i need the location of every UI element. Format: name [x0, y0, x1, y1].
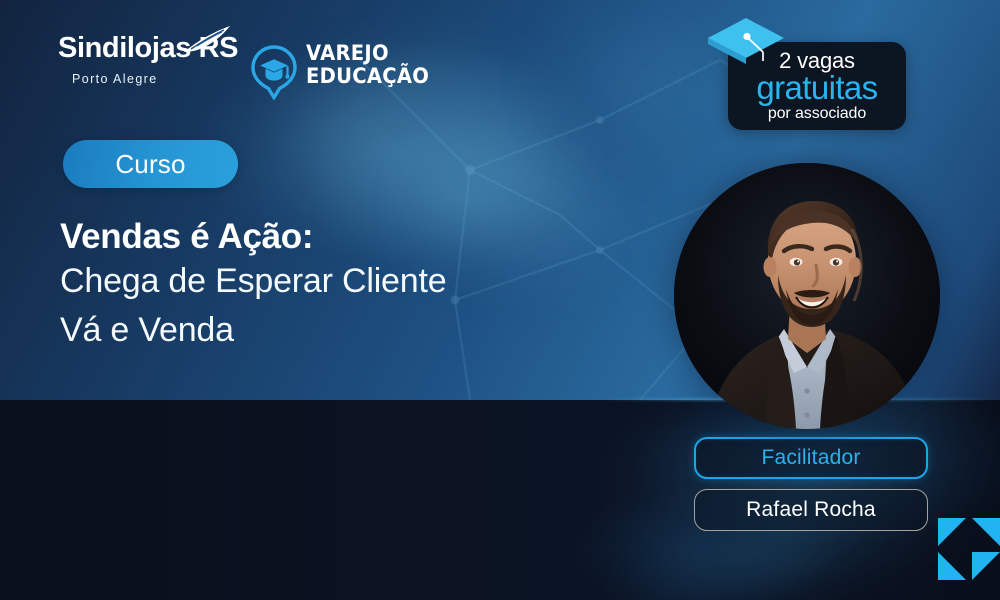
- facilitator-role-label: Facilitador: [761, 446, 860, 470]
- event-title-line-2: Chega de Esperar Cliente: [60, 257, 660, 305]
- varejo-line-1: VAREJO: [306, 42, 429, 65]
- feather-swoosh-icon: [178, 22, 234, 56]
- free-slots-line-3: por associado: [768, 105, 866, 123]
- category-badge-curso[interactable]: Curso: [63, 140, 238, 188]
- portrait-illustration: [674, 163, 940, 429]
- event-title-block: Vendas é Ação: Chega de Esperar Cliente …: [60, 216, 660, 354]
- event-title-line-3: Vá e Venda: [60, 306, 660, 354]
- map-pin-graduation-cap-icon: [248, 44, 300, 100]
- facilitator-name-pill[interactable]: Rafael Rocha: [694, 489, 928, 531]
- category-badge-label: Curso: [115, 149, 185, 180]
- event-title-main: Vendas é Ação:: [60, 216, 660, 257]
- logo-subtitle: Porto Alegre: [58, 72, 238, 86]
- logo-sindilojas-rs[interactable]: Sindilojas RS Porto Alegre: [58, 34, 238, 96]
- logo-varejo-educacao[interactable]: VAREJO EDUCAÇÃO: [248, 40, 398, 102]
- graduation-cap-icon: [705, 14, 787, 70]
- event-info-row: 16.06 08h30 às 12h00 Sindilojas POA Rua …: [0, 400, 640, 600]
- free-slots-badge: 2 vagas gratuitas por associado: [706, 16, 921, 131]
- facilitator-name-label: Rafael Rocha: [746, 498, 876, 522]
- facilitator-portrait: [674, 163, 940, 429]
- free-slots-line-2: gratuitas: [756, 71, 877, 104]
- event-promo-banner: Sindilojas RS Porto Alegre VAREJO EDUCAÇ…: [0, 0, 1000, 600]
- four-triangle-arrow-icon: [938, 518, 1000, 580]
- facilitator-role-pill[interactable]: Facilitador: [694, 437, 928, 479]
- varejo-line-2: EDUCAÇÃO: [306, 65, 429, 88]
